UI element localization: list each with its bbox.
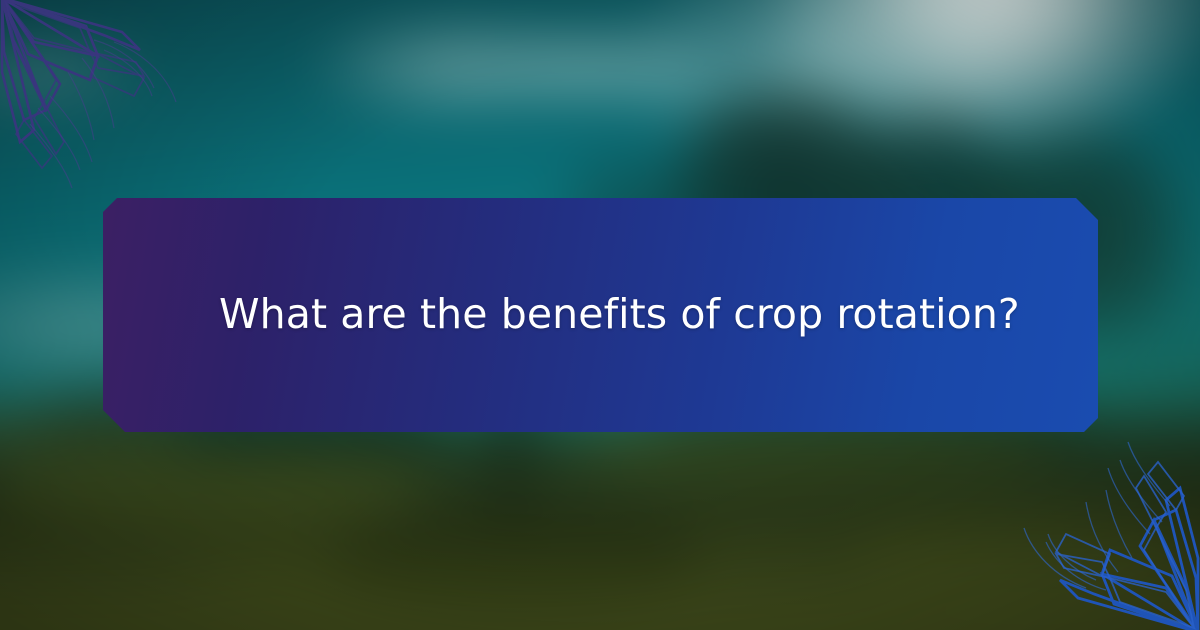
question-card: What are the benefits of crop rotation? [103,198,1098,432]
question-card-graphic: What are the benefits of crop rotation? [0,0,1200,630]
question-title: What are the benefits of crop rotation? [103,290,1020,339]
